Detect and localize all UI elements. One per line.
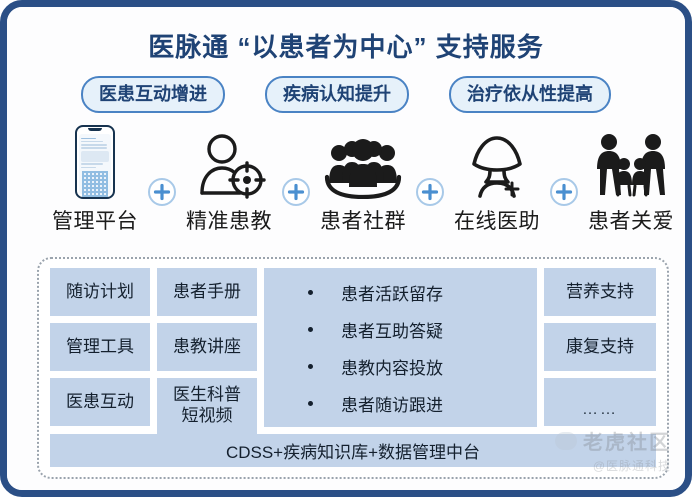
nurse-icon	[445, 123, 549, 199]
capability-column-4: 营养支持 康复支持 ……	[544, 268, 656, 434]
capability-cell[interactable]: 康复支持	[544, 323, 656, 371]
poster-frame: 医脉通 “以患者为中心” 支持服务 医患互动增进 疾病认知提升 治疗依从性提高	[0, 0, 692, 497]
service-item-online-assistant[interactable]: 在线医助	[445, 123, 549, 235]
list-item[interactable]: 患教内容投放	[308, 354, 537, 379]
list-item[interactable]: 患者活跃留存	[308, 280, 537, 305]
capability-grid: 随访计划 管理工具 医患互动 患者手册 患教讲座 医生科普 短视频 患者活跃留存…	[50, 268, 656, 434]
poster-inner: 医脉通 “以患者为中心” 支持服务 医患互动增进 疾病认知提升 治疗依从性提高	[7, 7, 685, 490]
page-title: 医脉通 “以患者为中心” 支持服务	[7, 27, 685, 64]
benefit-pill-3[interactable]: 治疗依从性提高	[449, 76, 611, 113]
capability-cell[interactable]: 管理工具	[50, 323, 150, 371]
service-item-management-platform[interactable]: 管理平台	[43, 123, 147, 235]
capability-cell-line2: 短视频	[173, 406, 241, 427]
capability-cell[interactable]: 营养支持	[544, 268, 656, 316]
list-item[interactable]: 患者随访跟进	[308, 391, 537, 416]
capability-cell-ellipsis: ……	[544, 378, 656, 426]
capability-cell[interactable]: 医患互动	[50, 378, 150, 426]
service-icon-row: 管理平台	[43, 123, 649, 235]
bullet-dot-icon	[308, 401, 313, 406]
benefit-pill-row: 医患互动增进 疾病认知提升 治疗依从性提高	[7, 76, 685, 113]
capability-cell[interactable]: 随访计划	[50, 268, 150, 316]
benefit-pill-2[interactable]: 疾病认知提升	[265, 76, 409, 113]
service-item-patient-care[interactable]: 患者关爱	[579, 123, 683, 235]
people-group-icon	[311, 123, 415, 199]
service-label-3: 患者社群	[320, 205, 406, 235]
capability-panel: 随访计划 管理工具 医患互动 患者手册 患教讲座 医生科普 短视频 患者活跃留存…	[37, 257, 669, 479]
platform-foundation-bar: CDSS+疾病知识库+数据管理中台	[50, 434, 656, 467]
capability-column-1: 随访计划 管理工具 医患互动	[50, 268, 150, 434]
list-item-label: 患者随访跟进	[341, 391, 443, 416]
family-care-icon	[579, 123, 683, 199]
capability-cell[interactable]: 患教讲座	[157, 323, 257, 371]
list-item-label: 患者活跃留存	[341, 280, 443, 305]
benefit-pill-1[interactable]: 医患互动增进	[81, 76, 225, 113]
plus-circle-icon-4	[549, 177, 579, 207]
service-item-patient-community[interactable]: 患者社群	[311, 123, 415, 235]
list-item[interactable]: 患者互助答疑	[308, 317, 537, 342]
service-item-precision-education[interactable]: 精准患教	[177, 123, 281, 235]
capability-column-3: 患者活跃留存 患者互助答疑 患教内容投放 患者随访跟进	[264, 268, 537, 434]
service-label-1: 管理平台	[52, 205, 138, 235]
service-label-5: 患者关爱	[588, 205, 674, 235]
capability-cell-line1: 医生科普	[173, 385, 241, 406]
service-label-4: 在线医助	[454, 205, 540, 235]
bullet-dot-icon	[308, 290, 313, 295]
capability-cell[interactable]: 患者手册	[157, 268, 257, 316]
list-item-label: 患教内容投放	[341, 354, 443, 379]
community-feature-list: 患者活跃留存 患者互助答疑 患教内容投放 患者随访跟进	[264, 268, 537, 427]
service-label-2: 精准患教	[186, 205, 272, 235]
capability-cell-multiline[interactable]: 医生科普 短视频	[157, 378, 257, 434]
bullet-dot-icon	[308, 364, 313, 369]
plus-circle-icon-3	[415, 177, 445, 207]
plus-circle-icon-1	[147, 177, 177, 207]
plus-circle-icon-2	[281, 177, 311, 207]
mobile-phone-icon	[43, 123, 147, 199]
list-item-label: 患者互助答疑	[341, 317, 443, 342]
capability-column-2: 患者手册 患教讲座 医生科普 短视频	[157, 268, 257, 434]
bullet-dot-icon	[308, 327, 313, 332]
person-target-icon	[177, 123, 281, 199]
